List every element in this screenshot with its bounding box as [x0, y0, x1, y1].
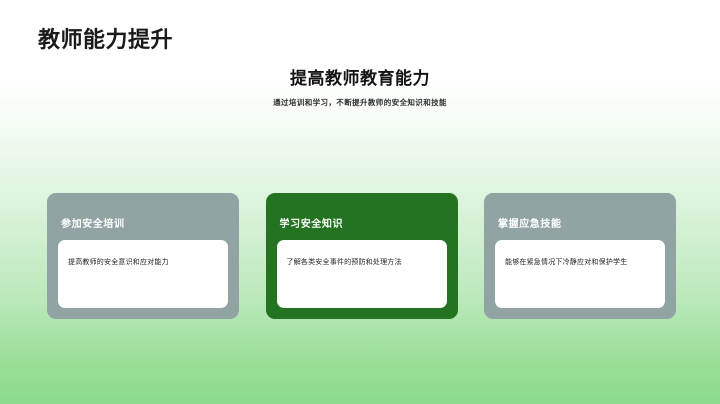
cards-row: 参加安全培训 提高教师的安全意识和应对能力 学习安全知识 了解各类安全事件的预防…: [47, 193, 676, 319]
card-body: 了解各类安全事件的预防和处理方法: [277, 240, 447, 308]
card-body: 提高教师的安全意识和应对能力: [58, 240, 228, 308]
card-master-emergency-skills[interactable]: 掌握应急技能 能够在紧急情况下冷静应对和保护学生: [484, 193, 676, 319]
card-body: 能够在紧急情况下冷静应对和保护学生: [495, 240, 665, 308]
card-title: 学习安全知识: [280, 219, 447, 231]
card-participate-safety-training[interactable]: 参加安全培训 提高教师的安全意识和应对能力: [47, 193, 239, 319]
card-title: 参加安全培训: [61, 219, 228, 231]
card-title: 掌握应急技能: [498, 219, 665, 231]
subheadline: 通过培训和学习，不断提升教师的安全知识和技能: [0, 98, 720, 108]
headline-block: 提高教师教育能力 通过培训和学习，不断提升教师的安全知识和技能: [0, 68, 720, 108]
headline: 提高教师教育能力: [0, 68, 720, 89]
card-learn-safety-knowledge[interactable]: 学习安全知识 了解各类安全事件的预防和处理方法: [266, 193, 458, 319]
presentation-slide: 教师能力提升 提高教师教育能力 通过培训和学习，不断提升教师的安全知识和技能 参…: [0, 0, 720, 404]
page-title: 教师能力提升: [38, 27, 173, 53]
